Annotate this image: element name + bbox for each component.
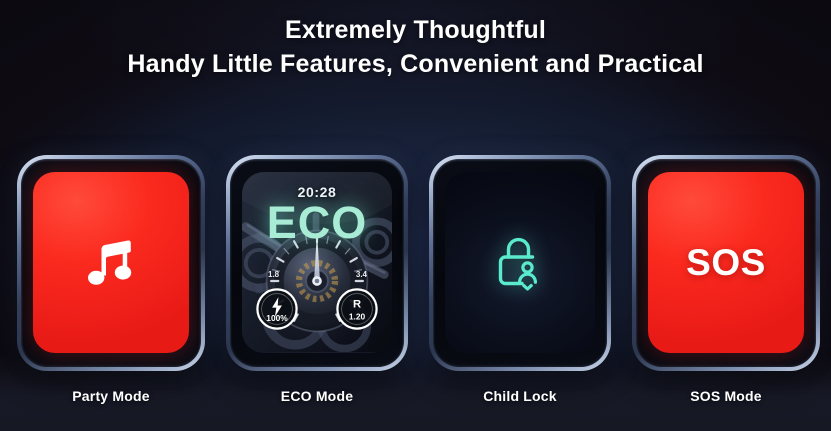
device-bezel (21, 159, 201, 367)
caption-row: Party Mode ECO Mode Child Lock SOS Mode (17, 388, 820, 404)
device-screen-eco: 20:28 ECO (242, 172, 392, 353)
device-screen-sos: SOS (648, 172, 804, 353)
feature-card-sos-mode[interactable]: SOS (632, 155, 820, 371)
ratio-subdial: R 1.20 (336, 288, 378, 330)
device-bezel: 20:28 ECO (230, 159, 404, 367)
caption-sos-mode: SOS Mode (632, 388, 820, 404)
r-letter-icon: R (353, 299, 361, 311)
headline-line-1: Extremely Thoughtful (0, 14, 831, 48)
feature-card-party-mode[interactable] (17, 155, 205, 371)
device-bezel: SOS (636, 159, 816, 367)
device-screen-child-lock (445, 172, 595, 353)
device-bezel (433, 159, 607, 367)
gauge-tick-label-right: 3.4 (356, 270, 367, 279)
battery-subdial: 100% (256, 288, 298, 330)
caption-party-mode: Party Mode (17, 388, 205, 404)
headline-line-2: Handy Little Features, Convenient and Pr… (0, 48, 831, 82)
feature-card-eco-mode[interactable]: 20:28 ECO (226, 155, 408, 371)
caption-eco-mode: ECO Mode (226, 388, 408, 404)
svg-text:1.20: 1.20 (349, 312, 366, 322)
device-screen-party (33, 172, 189, 353)
music-note-icon (33, 172, 189, 353)
sos-label: SOS (648, 172, 804, 353)
feature-card-child-lock[interactable] (429, 155, 611, 371)
headline: Extremely Thoughtful Handy Little Featur… (0, 14, 831, 81)
child-lock-icon (445, 172, 595, 353)
eco-mode-word: ECO (242, 197, 392, 249)
gauge-tick-label-left: 1.8 (268, 270, 279, 279)
promo-banner: Extremely Thoughtful Handy Little Featur… (0, 0, 831, 431)
caption-child-lock: Child Lock (429, 388, 611, 404)
feature-card-row: 20:28 ECO (17, 155, 820, 371)
svg-text:100%: 100% (266, 313, 288, 323)
